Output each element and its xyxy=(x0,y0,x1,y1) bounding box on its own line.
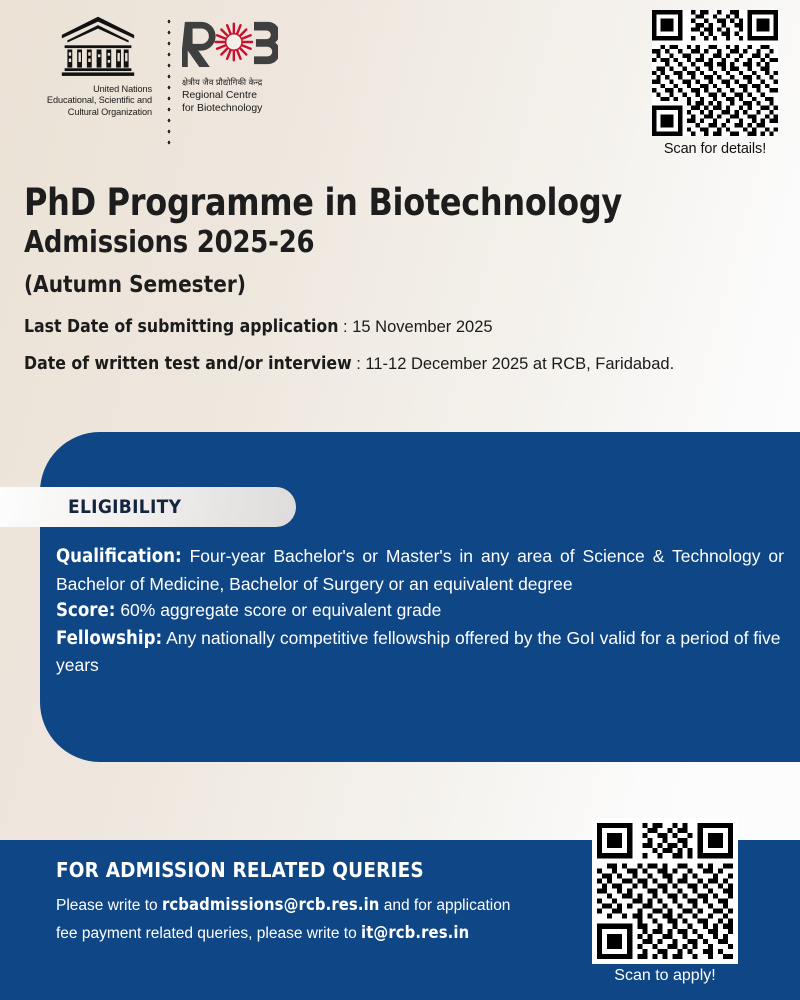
eligibility-item-text: 60% aggregate score or equivalent grade xyxy=(115,600,441,620)
footer-body: Please write to rcbadmissions@rcb.res.in… xyxy=(56,891,526,947)
eligibility-item-label: Qualification: xyxy=(56,546,182,567)
footer-heading: FOR ADMISSION RELATED QUERIES xyxy=(56,858,526,882)
eligibility-item-label: Fellowship: xyxy=(56,628,162,649)
it-email-link[interactable]: it@rcb.res.in xyxy=(361,923,469,942)
date-label: Last Date of submitting application xyxy=(24,317,338,337)
semester-label: (Autumn Semester) xyxy=(24,270,742,300)
rcb-hindi-caption: क्षेत्रीय जैव प्रौद्योगिकी केन्द्र xyxy=(182,77,262,88)
qr-apply-block[interactable]: Scan to apply! xyxy=(592,818,738,985)
qr-code-icon[interactable] xyxy=(592,818,738,964)
qr-code-icon[interactable] xyxy=(652,10,778,136)
footer-queries-block: FOR ADMISSION RELATED QUERIES Please wri… xyxy=(56,858,526,947)
unesco-temple-logo-icon xyxy=(55,14,141,78)
rcb-line-2: for Biotechnology xyxy=(182,103,262,116)
admissions-email-link[interactable]: rcbadmissions@rcb.res.in xyxy=(162,895,379,914)
qr-details-block[interactable]: Scan for details! xyxy=(648,10,782,157)
date-value: 11-12 December 2025 at RCB, Faridabad. xyxy=(365,355,674,373)
page-title: PhD Programme in Biotechnology xyxy=(24,182,734,224)
rcb-caption: Regional Centre for Biotechnology xyxy=(182,90,262,115)
date-label: Date of written test and/or interview xyxy=(24,354,352,374)
eligibility-item-score: Score: 60% aggregate score or equivalent… xyxy=(56,597,784,625)
rcb-logo-block: क्षेत्रीय जैव प्रौद्योगिकी केन्द्र Regio… xyxy=(182,14,278,115)
qr-details-caption: Scan for details! xyxy=(648,141,782,157)
eligibility-item-fellowship: Fellowship: Any nationally competitive f… xyxy=(56,625,784,679)
date-row: Date of written test and/or interview : … xyxy=(24,353,784,375)
rcb-sun-logo-icon xyxy=(182,16,278,68)
eligibility-content: Qualification: Four-year Bachelor's or M… xyxy=(56,543,784,679)
headline-block: PhD Programme in Biotechnology Admission… xyxy=(24,182,764,300)
eligibility-tab-label: ELIGIBILITY xyxy=(68,496,181,518)
unesco-line-2: Educational, Scientific and xyxy=(34,95,152,106)
unesco-line-1: United Nations xyxy=(34,84,152,95)
rcb-line-1: Regional Centre xyxy=(182,90,262,103)
dotted-divider xyxy=(164,16,174,148)
logo-bar: United Nations Educational, Scientific a… xyxy=(44,14,278,148)
footer-text-part-1: Please write to xyxy=(56,897,162,914)
eligibility-item-text: Any nationally competitive fellowship of… xyxy=(56,628,781,676)
date-value: 15 November 2025 xyxy=(352,318,492,336)
unesco-logo-block: United Nations Educational, Scientific a… xyxy=(44,14,152,118)
page-subtitle: Admissions 2025-26 xyxy=(24,224,734,261)
date-row: Last Date of submitting application : 15… xyxy=(24,316,784,338)
poster-root: United Nations Educational, Scientific a… xyxy=(0,0,800,1000)
eligibility-tab: ELIGIBILITY xyxy=(0,487,296,527)
key-dates-block: Last Date of submitting application : 15… xyxy=(24,316,784,390)
date-separator: : xyxy=(338,318,352,336)
qr-apply-caption: Scan to apply! xyxy=(592,967,738,985)
date-separator: : xyxy=(352,355,366,373)
unesco-caption: United Nations Educational, Scientific a… xyxy=(34,84,152,118)
eligibility-item-label: Score: xyxy=(56,600,115,621)
eligibility-item-qualification: Qualification: Four-year Bachelor's or M… xyxy=(56,543,784,597)
unesco-line-3: Cultural Organization xyxy=(34,107,152,118)
